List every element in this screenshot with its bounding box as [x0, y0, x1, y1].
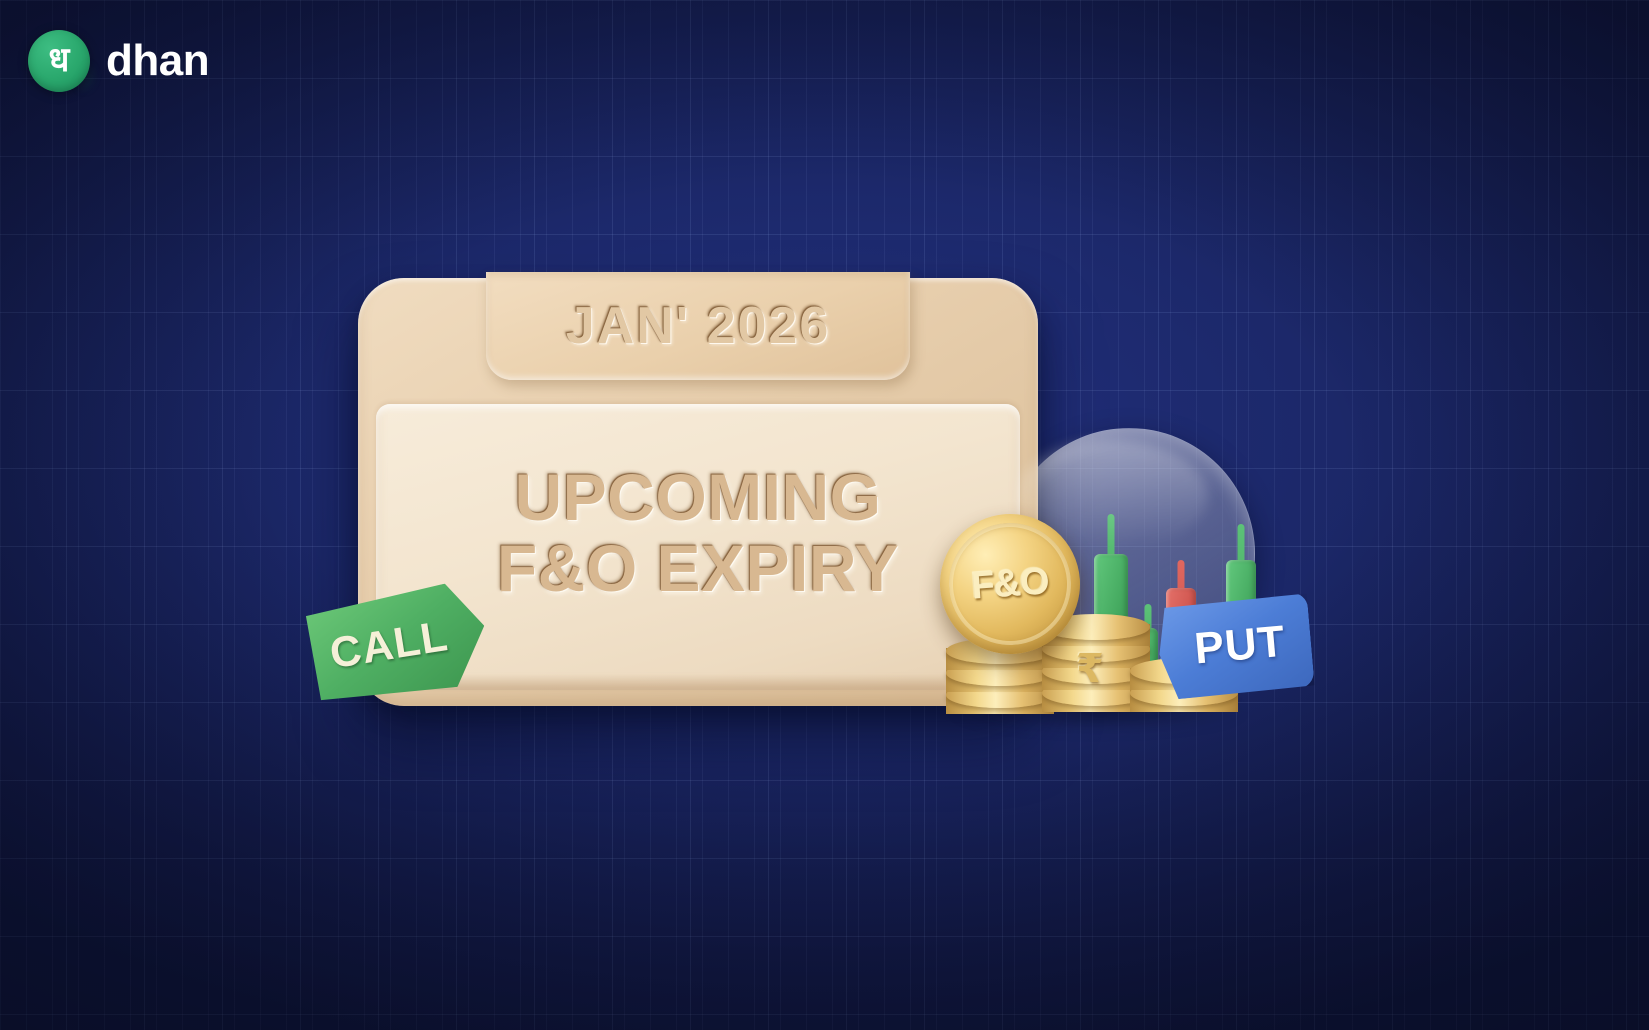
put-tag-label: PUT: [1192, 617, 1287, 675]
brand-logo[interactable]: ध dhan: [28, 30, 209, 92]
dhan-devanagari-glyph: ध: [49, 43, 70, 77]
rupee-symbol-icon: ₹: [1076, 646, 1104, 692]
fo-coin-label: F&O: [970, 560, 1050, 608]
month-label: JAN' 2026: [566, 296, 831, 356]
brand-name: dhan: [106, 36, 209, 86]
put-tag[interactable]: PUT: [1155, 592, 1315, 701]
dhan-logo-icon: ध: [28, 30, 90, 92]
month-tab: JAN' 2026: [486, 272, 910, 380]
headline-line-1: UPCOMING: [376, 462, 1020, 533]
